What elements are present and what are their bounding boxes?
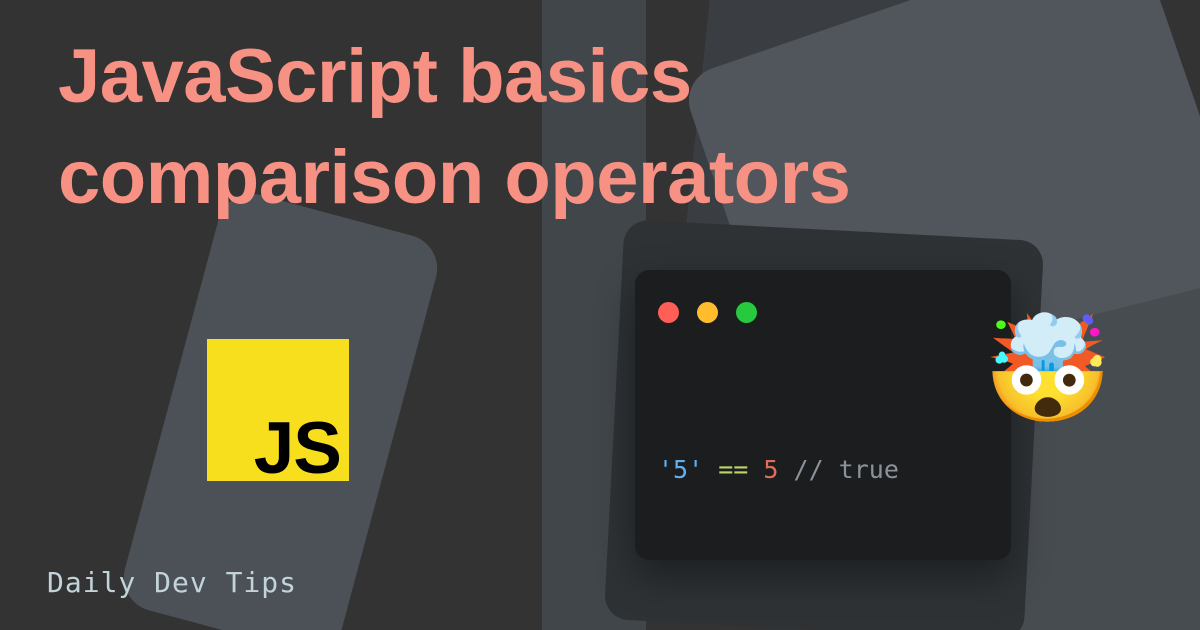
code-token-string: '5' xyxy=(658,455,703,484)
code-token-number: 5 xyxy=(763,455,778,484)
page-title: JavaScript basics comparison operators xyxy=(58,26,1158,228)
javascript-logo: JS xyxy=(207,339,349,481)
minimize-dot-icon[interactable] xyxy=(697,302,718,323)
window-traffic-lights xyxy=(658,302,757,323)
close-dot-icon[interactable] xyxy=(658,302,679,323)
code-token-op: == xyxy=(718,455,748,484)
code-token-plain xyxy=(778,455,793,484)
code-token-plain xyxy=(703,455,718,484)
javascript-logo-label: JS xyxy=(254,412,341,485)
code-line-1: '5' == 5 // true xyxy=(658,451,1001,489)
code-token-comment: // true xyxy=(794,455,899,484)
maximize-dot-icon[interactable] xyxy=(736,302,757,323)
exploding-head-icon: 🤯 xyxy=(983,311,1099,427)
brand-footer: Daily Dev Tips xyxy=(47,566,297,599)
code-block: '5' == 5 // true 5 === '5' // false // A… xyxy=(658,375,1001,560)
code-token-plain xyxy=(748,455,763,484)
social-card: JavaScript basics comparison operators J… xyxy=(0,0,1200,630)
code-terminal-window: '5' == 5 // true 5 === '5' // false // A… xyxy=(635,270,1011,560)
